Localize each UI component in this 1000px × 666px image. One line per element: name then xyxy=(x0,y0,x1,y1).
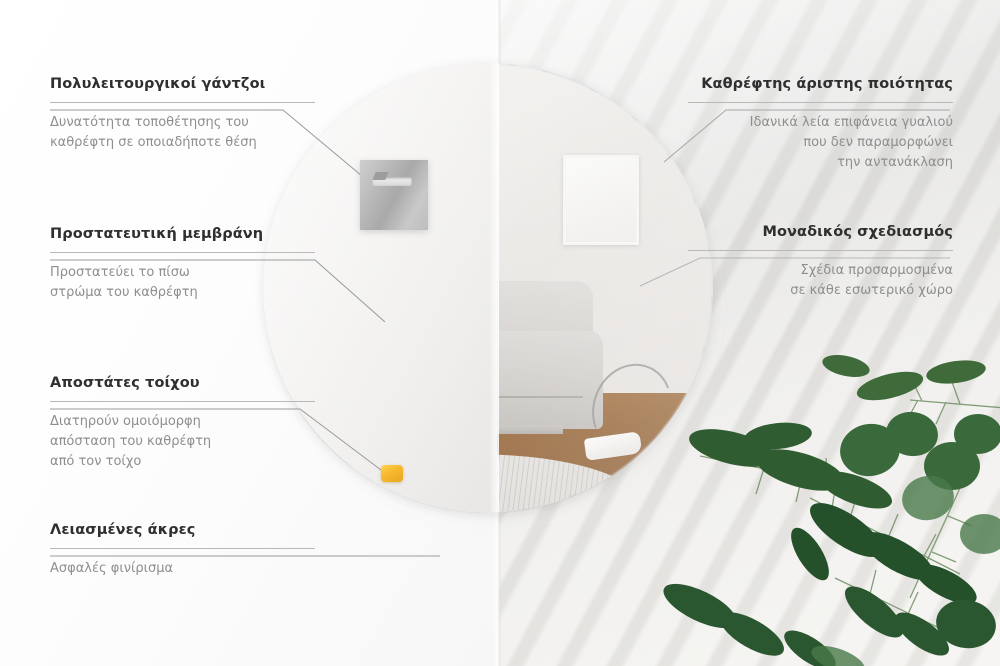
callout-rule xyxy=(50,548,315,549)
callout-description: Ασφαλές φινίρισμα xyxy=(50,559,315,579)
callout-rule xyxy=(688,250,953,251)
callout-unique-design: Μοναδικός σχεδιασμός Σχέδια προσαρμοσμέν… xyxy=(688,224,953,301)
callout-wall-spacers: Αποστάτες τοίχου Διατηρούν ομοιόμορφηαπό… xyxy=(50,375,315,472)
callout-description: Διατηρούν ομοιόμορφηαπόσταση του καθρέφτ… xyxy=(50,412,315,471)
callout-rule xyxy=(50,102,315,103)
callout-title: Πολυλειτουργικοί γάντζοι xyxy=(50,76,315,93)
callout-rule xyxy=(688,102,953,103)
callout-title: Μοναδικός σχεδιασμός xyxy=(688,224,953,241)
callout-smoothed-edges: Λειασμένες άκρες Ασφαλές φινίρισμα xyxy=(50,522,315,579)
callout-protective-membrane: Προστατευτική μεμβράνη Προστατεύει το πί… xyxy=(50,226,315,303)
callout-title: Λειασμένες άκρες xyxy=(50,522,315,539)
callout-title: Προστατευτική μεμβράνη xyxy=(50,226,315,243)
callout-hooks: Πολυλειτουργικοί γάντζοι Δυνατότητα τοπο… xyxy=(50,76,315,153)
foliage-decoration xyxy=(660,338,1000,666)
infographic-canvas: Πολυλειτουργικοί γάντζοι Δυνατότητα τοπο… xyxy=(0,0,1000,666)
callout-title: Καθρέφτης άριστης ποιότητας xyxy=(688,76,953,93)
callout-rule xyxy=(50,252,315,253)
callout-description: Σχέδια προσαρμοσμένασε κάθε εσωτερικό χώ… xyxy=(688,261,953,301)
mounting-hook-plate xyxy=(360,160,428,230)
product-mirror xyxy=(263,63,713,513)
callout-description: Προστατεύει το πίσωστρώμα του καθρέφτη xyxy=(50,263,315,303)
callout-premium-mirror: Καθρέφτης άριστης ποιότητας Ιδανικά λεία… xyxy=(688,76,953,173)
callout-rule xyxy=(50,401,315,402)
hook-slot-icon xyxy=(372,177,412,186)
callout-description: Ιδανικά λεία επιφάνεια γυαλιούπου δεν πα… xyxy=(688,113,953,172)
callout-title: Αποστάτες τοίχου xyxy=(50,375,315,392)
callout-description: Δυνατότητα τοποθέτησης τουκαθρέφτη σε οπ… xyxy=(50,113,315,153)
mirror-disc xyxy=(263,63,713,513)
wall-spacer-pad xyxy=(381,465,403,482)
